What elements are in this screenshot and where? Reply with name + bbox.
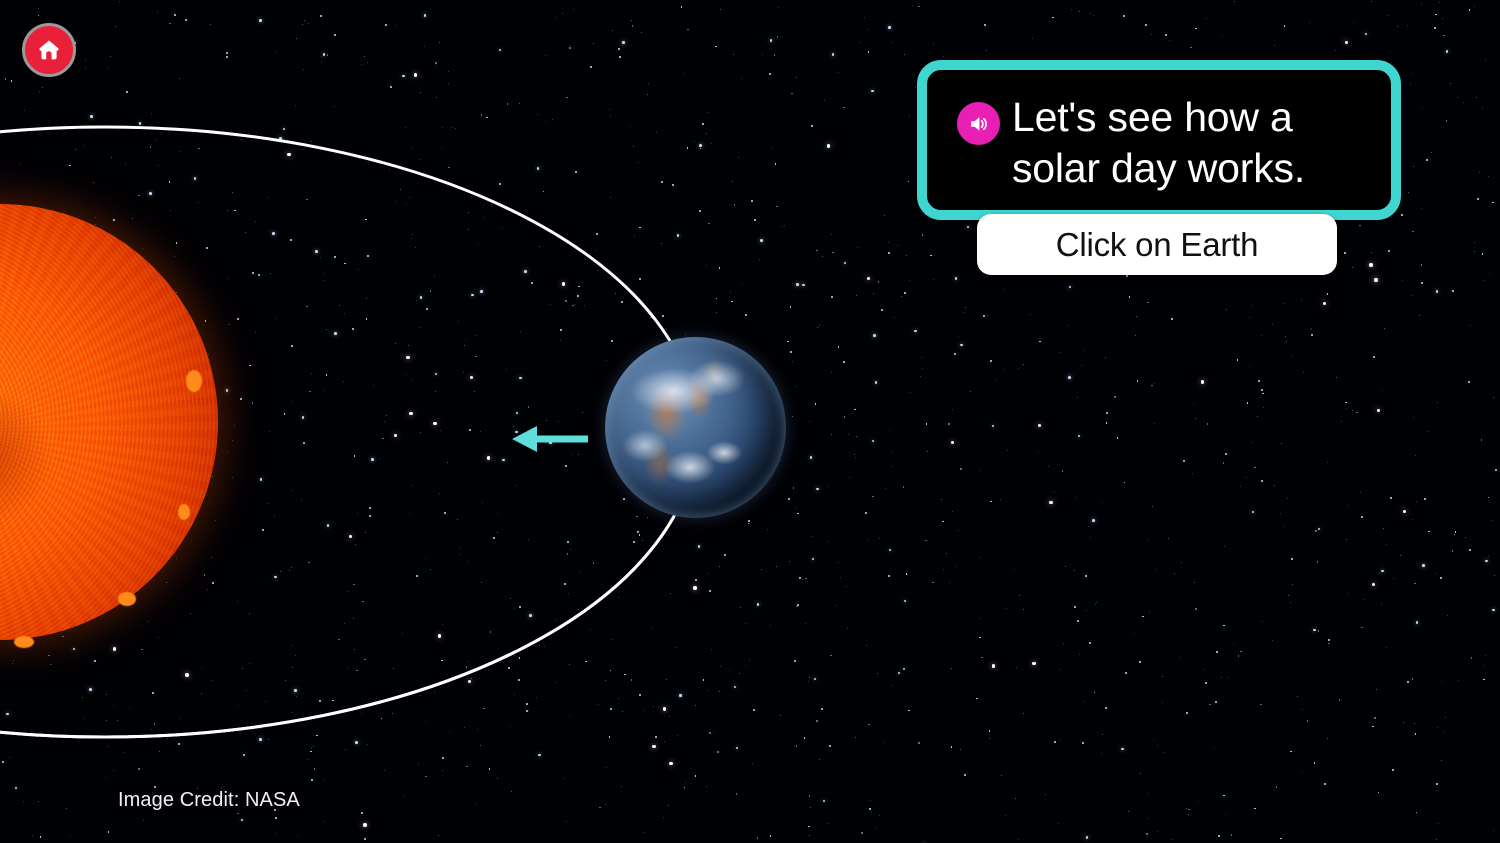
star [40, 836, 42, 838]
star [1381, 570, 1384, 573]
star [528, 539, 529, 540]
star [979, 637, 981, 639]
star [753, 709, 755, 711]
star [699, 210, 701, 212]
star [757, 603, 760, 606]
star [676, 647, 677, 648]
star [550, 304, 551, 305]
star [1414, 583, 1415, 584]
star [730, 291, 731, 292]
star [1233, 643, 1234, 644]
star [693, 586, 697, 590]
star [439, 493, 440, 494]
star [987, 315, 988, 316]
star [1416, 501, 1417, 502]
star [1446, 50, 1449, 53]
star [1442, 18, 1443, 19]
star [367, 62, 368, 63]
star [406, 374, 407, 375]
star [339, 305, 340, 306]
star [1171, 318, 1173, 320]
star [390, 86, 392, 88]
star [1400, 555, 1401, 556]
star [1086, 836, 1089, 839]
star [38, 15, 40, 17]
star [647, 94, 648, 95]
star [703, 679, 705, 681]
star [1471, 657, 1472, 658]
star [1287, 498, 1288, 499]
star [1378, 792, 1380, 794]
star [1186, 808, 1187, 809]
star [805, 578, 806, 579]
star [711, 649, 712, 650]
star [425, 776, 426, 777]
star [486, 117, 488, 119]
star [39, 91, 40, 92]
star [1000, 499, 1001, 500]
star [847, 628, 848, 629]
star [1347, 505, 1348, 506]
star [854, 409, 856, 411]
star [1262, 393, 1264, 395]
star [770, 835, 772, 837]
star [1054, 492, 1055, 493]
star [1372, 583, 1376, 587]
star [252, 402, 253, 403]
star [442, 624, 443, 625]
star [402, 633, 403, 634]
star [1102, 734, 1103, 735]
star [304, 20, 305, 21]
star [872, 440, 875, 443]
star [1018, 368, 1019, 369]
star [526, 710, 528, 712]
star [1407, 681, 1409, 683]
star [433, 422, 437, 426]
star [1284, 303, 1285, 304]
star [881, 309, 883, 311]
star [93, 182, 94, 183]
speaker-icon-button[interactable] [957, 102, 1000, 145]
star [706, 133, 707, 134]
star [295, 655, 296, 656]
star [311, 373, 312, 374]
star [260, 728, 261, 729]
star [139, 122, 142, 125]
star [1226, 309, 1227, 310]
star [444, 512, 446, 514]
star [1328, 643, 1329, 644]
speech-line-1: Let's see how a [1012, 92, 1305, 143]
star [828, 541, 829, 542]
star [105, 777, 106, 778]
star [1038, 451, 1039, 452]
star [1147, 302, 1148, 303]
star [1388, 15, 1389, 16]
star [892, 451, 893, 452]
star [11, 80, 13, 82]
earth[interactable] [605, 337, 786, 518]
star [1139, 661, 1141, 663]
star [543, 191, 545, 193]
star [129, 707, 130, 708]
star [1421, 208, 1422, 209]
star [1288, 595, 1289, 596]
star [1290, 602, 1291, 603]
star [1314, 762, 1316, 764]
star [539, 645, 540, 646]
star [1438, 823, 1439, 824]
star [381, 718, 383, 720]
star [425, 558, 426, 559]
star [75, 149, 76, 150]
star [1309, 22, 1310, 23]
star [1153, 740, 1154, 741]
star [1249, 366, 1250, 367]
star [6, 713, 9, 716]
star [637, 531, 639, 533]
star [311, 747, 312, 748]
star [855, 737, 856, 738]
star [255, 221, 256, 222]
star [477, 729, 478, 730]
star [1302, 709, 1303, 710]
star [742, 283, 743, 284]
star [1311, 328, 1312, 329]
star [115, 26, 116, 27]
star [740, 607, 741, 608]
star [1068, 376, 1071, 379]
star [869, 808, 871, 810]
star [655, 736, 657, 738]
star [1489, 273, 1490, 274]
star [364, 56, 365, 57]
star [519, 606, 521, 608]
star [508, 667, 510, 669]
star [482, 502, 483, 503]
star [389, 169, 390, 170]
star [469, 429, 471, 431]
star [1252, 442, 1253, 443]
star [297, 835, 298, 836]
star [1381, 603, 1382, 604]
star [198, 202, 199, 203]
star [912, 5, 913, 6]
star [1397, 26, 1398, 27]
star [1452, 290, 1454, 292]
star [656, 132, 657, 133]
star [321, 61, 322, 62]
star [280, 571, 281, 572]
star [762, 54, 763, 55]
star [1421, 3, 1422, 4]
star [258, 274, 260, 276]
star [992, 664, 996, 668]
star [324, 821, 325, 822]
star [639, 694, 641, 696]
star [930, 255, 932, 257]
star [1356, 412, 1357, 413]
star [338, 639, 339, 640]
star [639, 534, 641, 536]
star [1162, 676, 1163, 677]
star [875, 381, 878, 384]
star [817, 327, 818, 328]
star [868, 724, 869, 725]
star [1249, 317, 1250, 318]
star [468, 680, 472, 684]
star [416, 575, 418, 577]
star [788, 498, 790, 500]
star [478, 243, 479, 244]
star [1151, 34, 1152, 35]
star [719, 566, 720, 567]
star [108, 831, 110, 833]
star [770, 625, 771, 626]
star [1336, 377, 1337, 378]
star [570, 549, 571, 550]
star [888, 242, 889, 243]
star [1286, 341, 1287, 342]
star [343, 381, 344, 382]
star [1257, 416, 1258, 417]
star [323, 280, 324, 281]
star [510, 726, 511, 727]
star [623, 498, 625, 500]
star [1369, 263, 1373, 267]
star [354, 649, 355, 650]
star [1436, 839, 1437, 840]
star [805, 623, 806, 624]
star [476, 335, 477, 336]
star [888, 252, 890, 254]
star [226, 52, 228, 54]
star [823, 800, 826, 803]
star [1004, 369, 1005, 370]
star [782, 226, 783, 227]
star [894, 317, 895, 318]
star [769, 73, 771, 75]
star [793, 487, 794, 488]
star [878, 281, 879, 282]
star [717, 751, 718, 752]
star [1006, 608, 1007, 609]
star [354, 455, 356, 457]
click-on-earth-button[interactable]: Click on Earth [977, 214, 1337, 275]
star [1188, 814, 1189, 815]
star [303, 442, 305, 444]
star [1062, 470, 1063, 471]
star [828, 823, 829, 824]
star [605, 680, 606, 681]
star [1018, 839, 1019, 840]
star [748, 520, 750, 522]
star [949, 582, 950, 583]
star [1374, 278, 1378, 282]
star [1457, 97, 1458, 98]
sun-prominence [186, 370, 202, 392]
star [903, 668, 905, 670]
star [897, 245, 898, 246]
star [873, 293, 874, 294]
star [1386, 647, 1387, 648]
star [811, 125, 813, 127]
star [1303, 372, 1304, 373]
star [1413, 417, 1414, 418]
star [515, 431, 518, 434]
star [89, 688, 92, 691]
star [624, 674, 626, 676]
star [932, 582, 933, 583]
star [499, 183, 501, 185]
star [364, 838, 366, 840]
star [425, 721, 426, 722]
star [1492, 202, 1494, 204]
star [927, 451, 928, 452]
star [59, 75, 60, 76]
star [754, 219, 756, 221]
star [481, 582, 482, 583]
star [889, 549, 892, 552]
star [713, 731, 714, 732]
star [1101, 753, 1102, 754]
star [1428, 431, 1429, 432]
star [933, 44, 934, 45]
star [459, 554, 460, 555]
star [1310, 329, 1311, 330]
star [709, 590, 711, 592]
star [1151, 385, 1152, 386]
star [960, 344, 963, 347]
star [366, 298, 367, 299]
star [358, 269, 359, 270]
star [528, 406, 529, 407]
star [241, 819, 244, 822]
star [904, 292, 906, 294]
star [1114, 396, 1115, 397]
star [178, 743, 180, 745]
star [1192, 473, 1193, 474]
star [867, 277, 871, 281]
star [308, 562, 309, 563]
star [1492, 609, 1495, 612]
star [1346, 408, 1347, 409]
star [232, 477, 233, 478]
star [835, 605, 836, 606]
star [1318, 630, 1319, 631]
star [1004, 289, 1005, 290]
star [269, 431, 270, 432]
star [1218, 835, 1220, 837]
star [1371, 252, 1372, 253]
star [759, 259, 760, 260]
star [438, 835, 439, 836]
star [480, 431, 481, 432]
star [514, 694, 515, 695]
star [386, 415, 387, 416]
sun-prominence [14, 636, 34, 648]
star [734, 204, 735, 205]
star [734, 686, 737, 689]
star [832, 53, 835, 56]
star [941, 499, 942, 500]
star [1307, 720, 1308, 721]
star [830, 655, 831, 656]
star [606, 767, 607, 768]
star [1126, 275, 1128, 277]
star [1261, 389, 1263, 391]
star [1145, 24, 1147, 26]
star [85, 68, 86, 69]
star [642, 540, 643, 541]
star [634, 235, 635, 236]
star [1421, 264, 1422, 265]
star [1474, 251, 1475, 252]
star [1207, 423, 1208, 424]
star [811, 536, 812, 537]
star [255, 332, 256, 333]
star [698, 545, 701, 548]
star [1225, 453, 1227, 455]
star [326, 329, 327, 330]
star [1406, 515, 1407, 516]
star [420, 159, 421, 160]
star [2, 761, 4, 763]
star [451, 127, 452, 128]
star [1292, 584, 1293, 585]
star [871, 90, 874, 93]
star [409, 197, 410, 198]
star [1195, 608, 1196, 609]
star [770, 39, 773, 42]
star [977, 57, 978, 58]
star [1039, 341, 1041, 343]
star [584, 305, 585, 306]
star [405, 127, 406, 128]
star [840, 577, 841, 578]
home-icon [36, 37, 62, 63]
star [1347, 593, 1348, 594]
star [1106, 412, 1108, 414]
star [379, 458, 380, 459]
star [1469, 9, 1471, 11]
star [1315, 530, 1316, 531]
star [856, 436, 857, 437]
star [815, 403, 817, 405]
star [367, 744, 368, 745]
star [745, 623, 746, 624]
star [877, 673, 878, 674]
star [1384, 328, 1385, 329]
home-button[interactable] [22, 23, 76, 77]
star [536, 697, 537, 698]
star [9, 757, 10, 758]
star [520, 331, 521, 332]
star [1373, 356, 1375, 358]
sun[interactable] [0, 204, 218, 640]
star [302, 24, 303, 25]
star [539, 246, 540, 247]
star [871, 811, 872, 812]
star [227, 210, 228, 211]
star [436, 97, 437, 98]
star [470, 376, 474, 380]
star [954, 353, 956, 355]
star [232, 192, 233, 193]
star [799, 577, 801, 579]
star [1015, 798, 1016, 799]
